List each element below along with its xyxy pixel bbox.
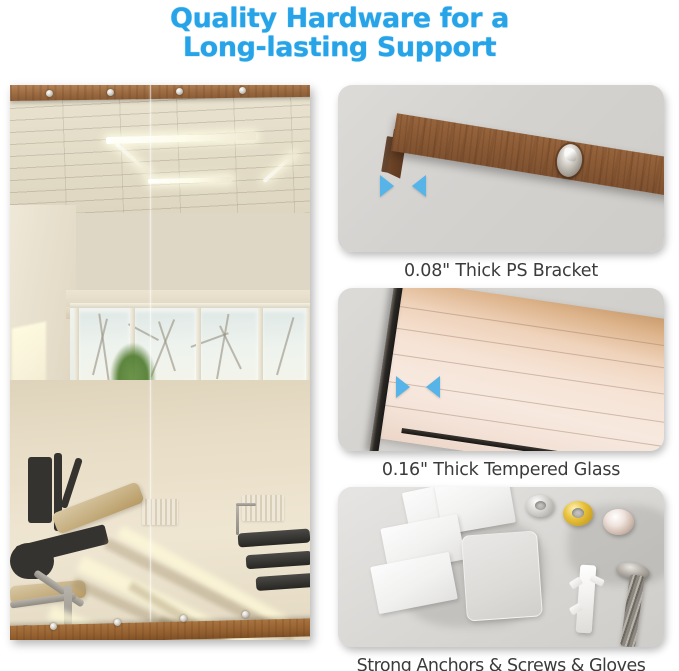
washer-hole bbox=[572, 508, 584, 518]
thickness-arrow-right-icon bbox=[396, 376, 410, 398]
treadmill-rail bbox=[236, 505, 239, 535]
radiator bbox=[242, 495, 284, 521]
infographic-page: Quality Hardware for a Long-lasting Supp… bbox=[0, 0, 679, 671]
frame-screw bbox=[107, 89, 114, 96]
radiator bbox=[142, 499, 178, 525]
frame-screw bbox=[242, 611, 249, 618]
frame-screw bbox=[180, 615, 187, 622]
glass-reflection-line bbox=[395, 327, 664, 372]
gym-machine-frame bbox=[28, 457, 52, 523]
thickness-arrow-left-icon bbox=[412, 175, 426, 197]
glass-reflection-line bbox=[383, 405, 664, 450]
caption-ps-bracket: 0.08" Thick PS Bracket bbox=[338, 252, 664, 288]
caption-tempered-glass: 0.16" Thick Tempered Glass bbox=[338, 451, 664, 487]
mirror-glass-surface bbox=[379, 288, 664, 451]
frame-screw bbox=[239, 87, 246, 94]
wood-bracket bbox=[391, 113, 664, 198]
frame-screw bbox=[114, 619, 121, 626]
frame-screw bbox=[176, 88, 183, 95]
photo-content bbox=[10, 85, 310, 640]
window-mullion bbox=[70, 303, 310, 308]
ceiling bbox=[10, 85, 310, 213]
washer-cap-bronze bbox=[603, 509, 634, 535]
thickness-arrow-left-icon bbox=[426, 376, 440, 398]
caption-hardware-kit: Strong Anchors & Screws & Gloves bbox=[338, 647, 664, 671]
machine-flywheel bbox=[10, 543, 54, 579]
washer-gold bbox=[563, 501, 593, 526]
bracket-illustration bbox=[338, 85, 664, 252]
washer-hole bbox=[535, 501, 546, 510]
mirror-panel-seam bbox=[150, 85, 151, 640]
page-title: Quality Hardware for a Long-lasting Supp… bbox=[0, 4, 679, 62]
panel-hardware-kit bbox=[338, 487, 664, 647]
treadmill-handle bbox=[236, 503, 256, 506]
washer-silver bbox=[526, 495, 554, 517]
glove-sheet bbox=[461, 530, 543, 621]
panel-tempered-glass bbox=[338, 288, 664, 451]
feature-panels-column: 0.08" Thick PS Bracket 0.16" Thick Tempe… bbox=[338, 85, 664, 671]
panel-ps-bracket bbox=[338, 85, 664, 252]
title-line-2: Long-lasting Support bbox=[0, 33, 679, 62]
screw-slot bbox=[563, 147, 578, 162]
frame-screw bbox=[50, 623, 57, 630]
title-line-1: Quality Hardware for a bbox=[0, 4, 679, 33]
frame-screw bbox=[46, 90, 53, 97]
thickness-arrow-right-icon bbox=[380, 175, 394, 197]
glass-reflection-line bbox=[398, 306, 664, 351]
gym-mirror-photo bbox=[10, 85, 310, 640]
